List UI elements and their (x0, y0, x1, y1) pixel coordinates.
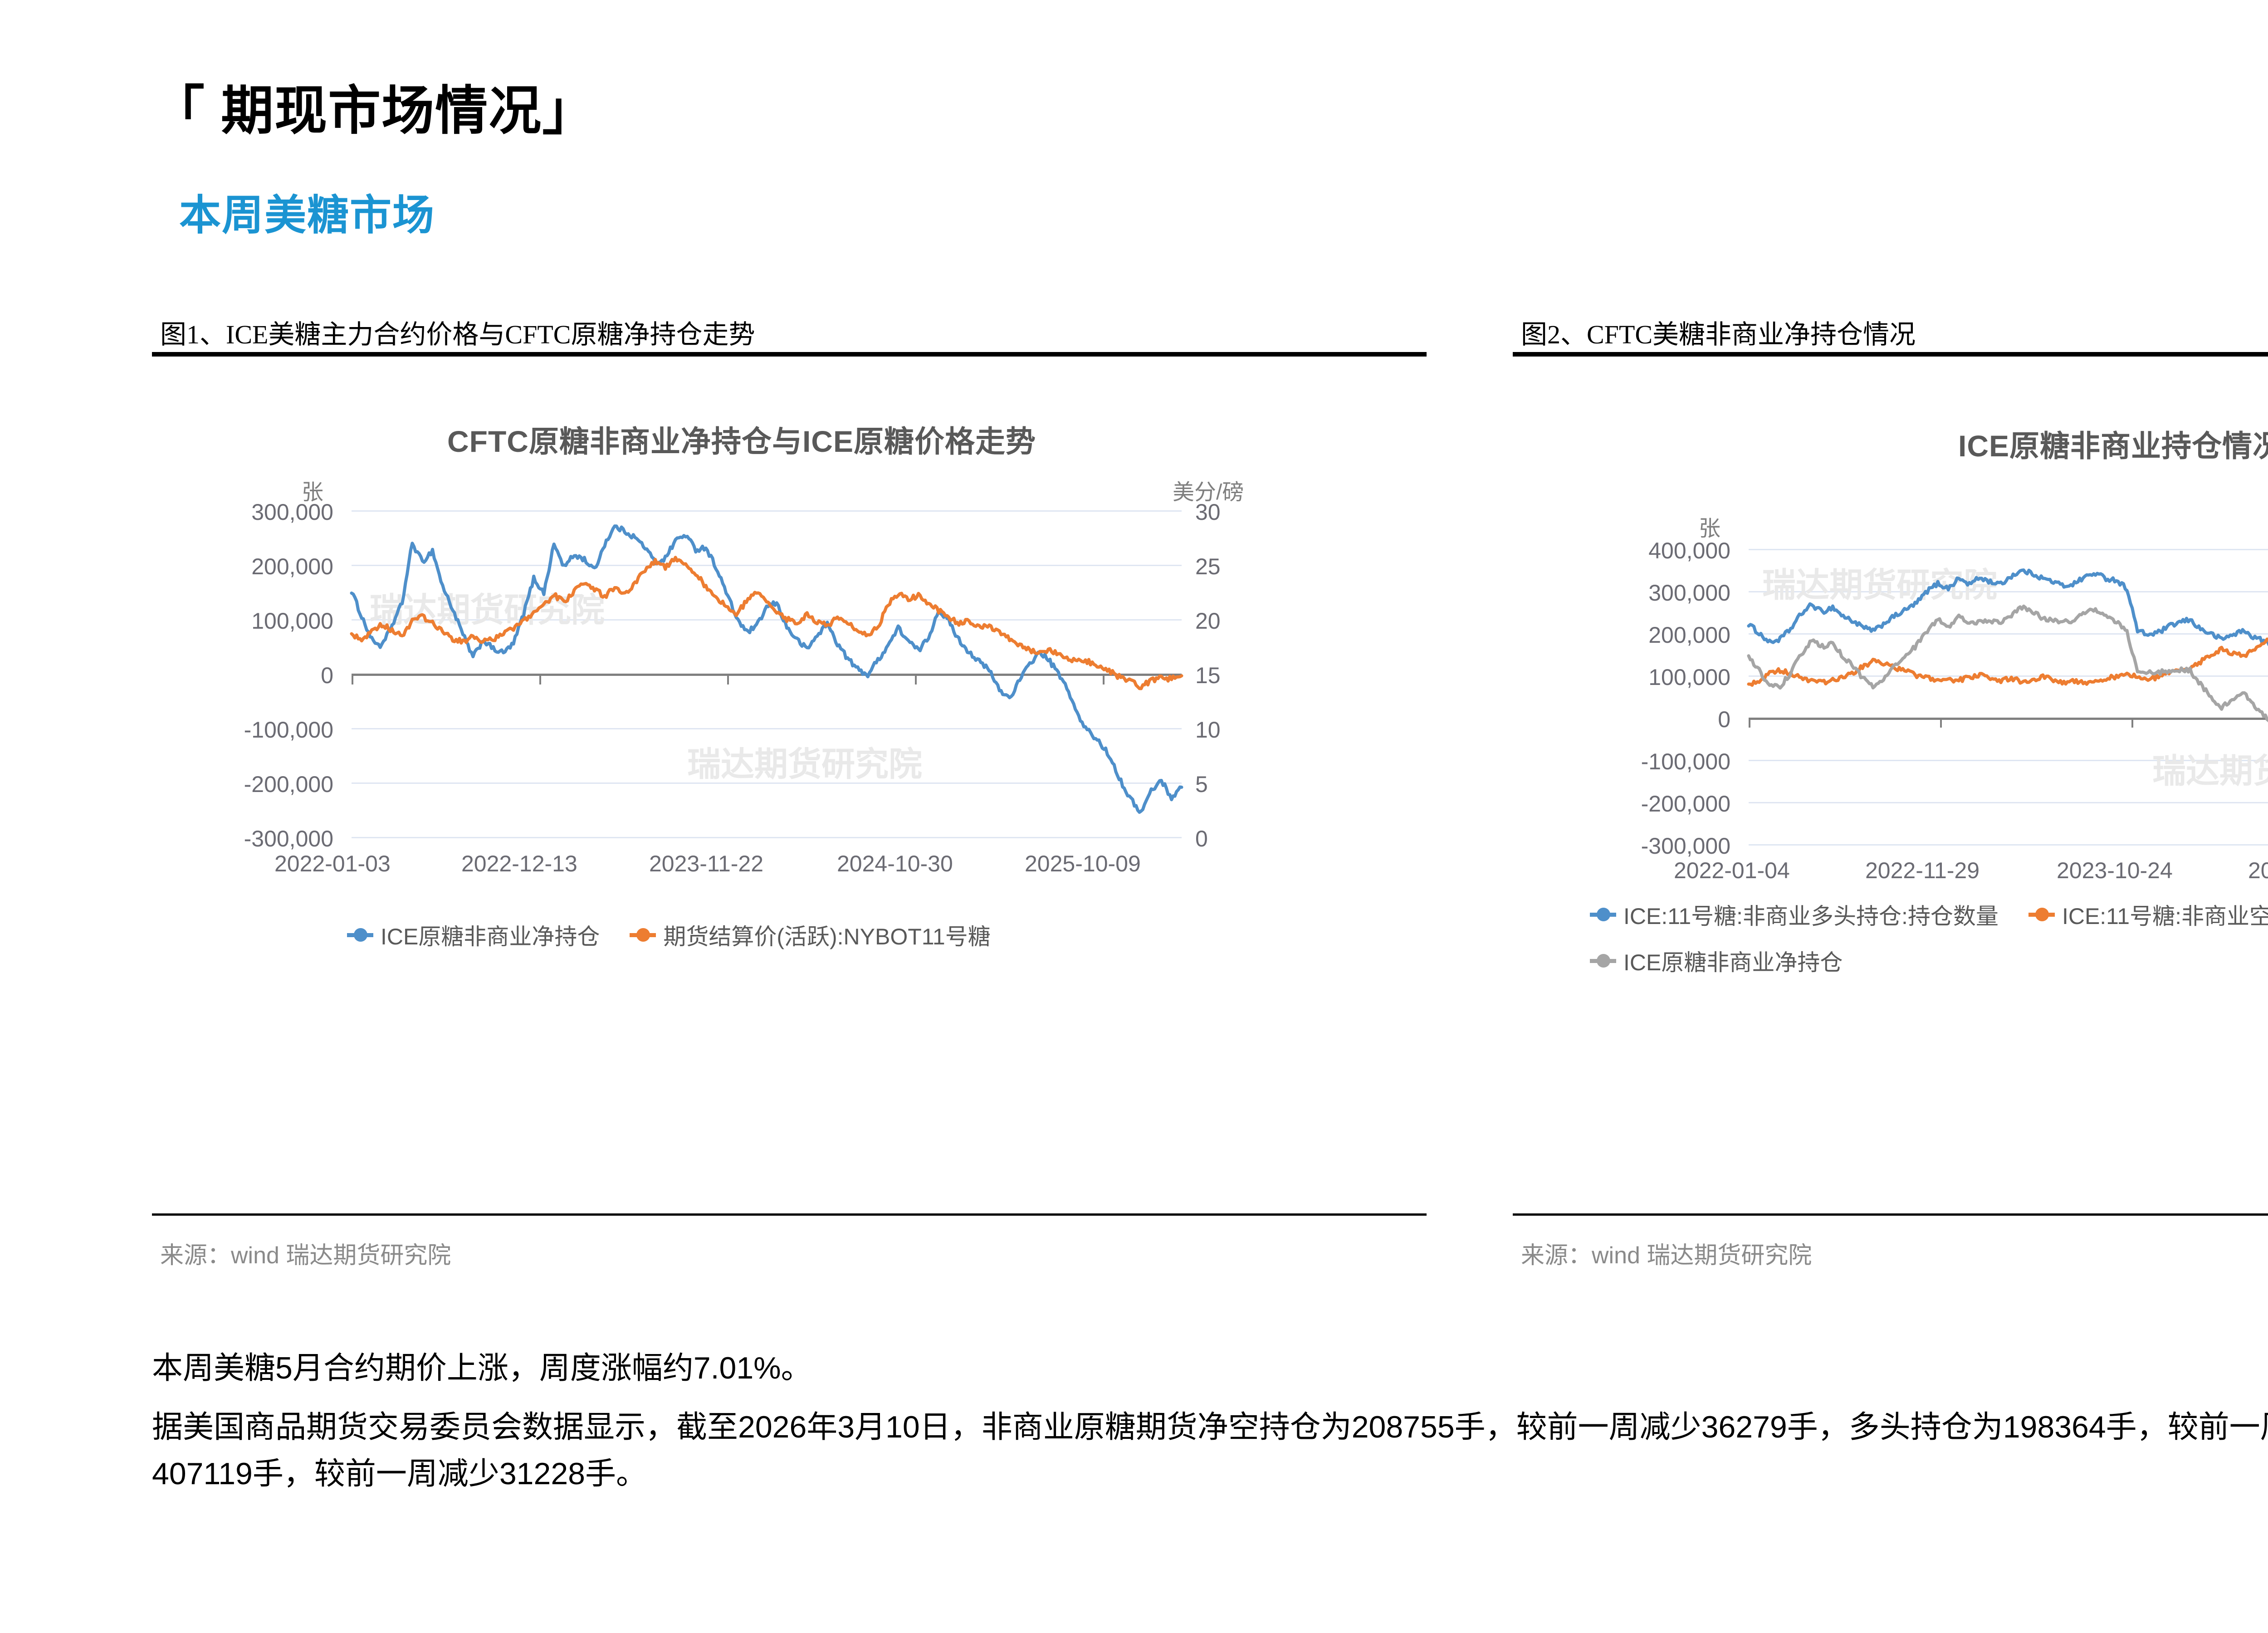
chart-2-ytick-2: 200,000 (1563, 622, 1730, 648)
chart-1-ytick-3: 0 (166, 662, 333, 689)
figure-panel-2: 图2、CFTC美糖非商业净持仓情况 来源：wind 瑞达期货研究院 ICE原糖非… (1513, 313, 2268, 1279)
legend-label: ICE:11号糖:非商业空头持仓:持仓数量 (2062, 898, 2268, 931)
chart-2-xtick-0: 2022-01-04 (1674, 857, 1790, 884)
chart-1-ytick-2: 100,000 (166, 608, 333, 634)
chart-2-plot-area: 瑞达期货研究院 瑞达期货研究院 (1749, 549, 2268, 844)
legend-line-marker-icon (1590, 901, 1616, 928)
chart-2-xtick-3: 2024-09-17 (2248, 857, 2268, 884)
chart-1-y2tick-0: 30 (1195, 499, 1263, 525)
figure-panel-1: 图1、ICE美糖主力合约价格与CFTC原糖净持仓走势 来源：wind 瑞达期货研… (152, 313, 1427, 1279)
chart-1-ytick-5: -200,000 (166, 771, 333, 797)
figure-2-source: 来源：wind 瑞达期货研究院 (1521, 1236, 1812, 1270)
chart-1-ytick-6: -300,000 (166, 826, 333, 852)
legend-line-marker-icon (630, 922, 656, 948)
gridline (1749, 844, 2268, 846)
chart-1-plot-area: 瑞达期货研究院 瑞达期货研究院 (352, 510, 1182, 837)
chart-2-ytick-5: -100,000 (1563, 748, 1730, 775)
chart-2-title: ICE原糖非商业持仓情况 (1622, 422, 2268, 465)
figure-2-caption: 图2、CFTC美糖非商业净持仓情况 (1521, 313, 1916, 351)
chart-2-lines (1749, 549, 2268, 844)
chart-1-y2tick-1: 25 (1195, 553, 1263, 580)
figure-1-source: 来源：wind 瑞达期货研究院 (160, 1236, 451, 1270)
legend-label: ICE:11号糖:非商业多头持仓:持仓数量 (1623, 898, 1999, 931)
chart-1-xtick-0: 2022-01-03 (274, 851, 391, 877)
chart-1-xtick-2: 2023-11-22 (649, 851, 763, 877)
body-paragraph-2: 据美国商品期货交易委员会数据显示，截至2026年3月10日，非商业原糖期货净空持… (152, 1404, 2268, 1498)
legend-item[interactable]: ICE:11号糖:非商业多头持仓:持仓数量 (1590, 898, 1999, 931)
page-title: 「 期现市场情况」 (152, 68, 596, 144)
legend-item[interactable]: ICE原糖非商业净持仓 (347, 919, 600, 951)
legend-item[interactable]: 期货结算价(活跃):NYBOT11号糖 (630, 919, 990, 951)
legend-item[interactable]: ICE原糖非商业净持仓 (1590, 944, 2268, 977)
series-line (352, 526, 1182, 812)
chart-2-xtick-1: 2022-11-29 (1865, 857, 1980, 884)
legend-item[interactable]: ICE:11号糖:非商业空头持仓:持仓数量 (2028, 898, 2268, 931)
chart-1-xtick-1: 2022-12-13 (461, 851, 577, 877)
chart-1: CFTC原糖非商业净持仓与ICE原糖价格走势 张 美分/磅 300,000 20… (152, 363, 1427, 1198)
chart-1-y2tick-5: 5 (1195, 771, 1263, 797)
figure-1-caption: 图1、ICE美糖主力合约价格与CFTC原糖净持仓走势 (160, 313, 755, 351)
chart-1-y2tick-3: 15 (1195, 662, 1263, 689)
chart-2-ytick-4: 0 (1563, 706, 1730, 733)
figure-1-bottom-rule (152, 1213, 1427, 1216)
chart-1-xtick-marks (352, 674, 1182, 689)
legend-label: 期货结算价(活跃):NYBOT11号糖 (663, 919, 990, 951)
chart-1-ytick-4: -100,000 (166, 717, 333, 743)
series-line (1749, 570, 2268, 651)
gridline (352, 837, 1182, 838)
figure-1-top-rule (152, 352, 1427, 357)
slide-page: 「 期现市场情况」 本周美糖市场 瑞达期货研究院 (0, 0, 2268, 1633)
chart-2-xtick-2: 2023-10-24 (2057, 857, 2173, 884)
chart-2-ytick-1: 300,000 (1563, 580, 1730, 606)
chart-2-xtick-marks (1749, 718, 2268, 733)
legend-line-marker-icon (347, 922, 373, 948)
chart-2-ytick-0: 400,000 (1563, 538, 1730, 564)
chart-2-legend: ICE:11号糖:非商业多头持仓:持仓数量 ICE:11号糖:非商业空头持仓:持… (1590, 898, 2268, 977)
chart-1-title: CFTC原糖非商业净持仓与ICE原糖价格走势 (152, 417, 1331, 461)
chart-1-y2tick-6: 0 (1195, 826, 1263, 852)
figure-2-bottom-rule (1513, 1213, 2268, 1216)
page-subtitle: 本周美糖市场 (179, 181, 435, 242)
series-line (1749, 606, 2268, 810)
chart-1-ytick-0: 300,000 (166, 499, 333, 525)
chart-2-ytick-7: -300,000 (1563, 833, 1730, 859)
chart-1-ytick-1: 200,000 (166, 553, 333, 580)
chart-1-y2tick-4: 10 (1195, 717, 1263, 743)
chart-1-y2tick-2: 20 (1195, 608, 1263, 634)
legend-label: ICE原糖非商业净持仓 (381, 919, 600, 951)
legend-line-marker-icon (1590, 948, 1616, 974)
legend-line-marker-icon (2028, 901, 2055, 928)
chart-1-xtick-3: 2024-10-30 (837, 851, 953, 877)
legend-label: ICE原糖非商业净持仓 (1623, 944, 1843, 977)
chart-1-xtick-4: 2025-10-09 (1025, 851, 1141, 877)
chart-1-legend: ICE原糖非商业净持仓 期货结算价(活跃):NYBOT11号糖 (347, 919, 1254, 951)
chart-2-ytick-3: 100,000 (1563, 664, 1730, 690)
body-line-1: 本周美糖5月合约期价上涨，周度涨幅约7.01%。 (152, 1343, 812, 1388)
chart-2-ytick-6: -200,000 (1563, 791, 1730, 817)
figure-2-top-rule (1513, 352, 2268, 357)
chart-2: ICE原糖非商业持仓情况 张 400,000 300,000 200,000 1… (1513, 363, 2268, 1198)
